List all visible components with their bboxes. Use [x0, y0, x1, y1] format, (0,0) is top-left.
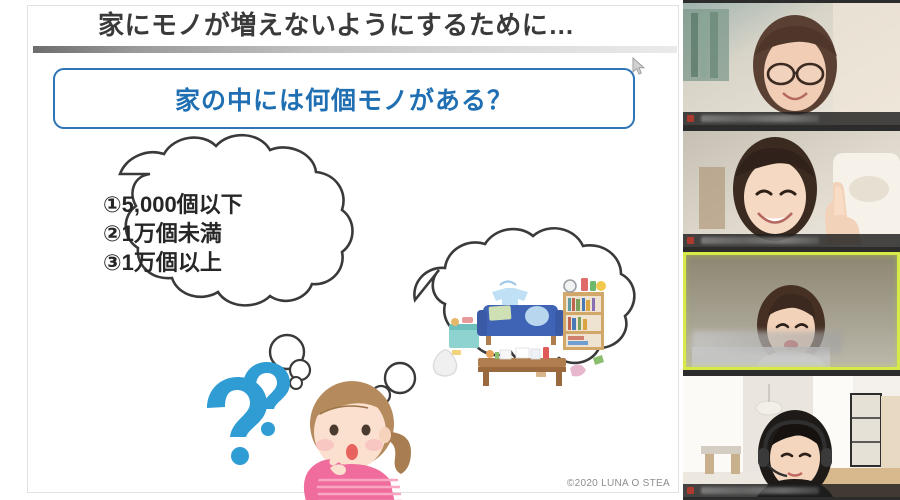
mic-muted-icon-1	[687, 115, 694, 122]
slide-title: 家にモノが増えないようにするために…	[98, 8, 598, 42]
screen-share-meeting-view: 家にモノが増えないようにするために… 家の中には何個モノがある？	[0, 0, 900, 500]
participant-tile-4[interactable]	[683, 376, 900, 497]
participant-video-panel	[683, 0, 900, 500]
option-list: ①5,000個以下 ②1万個未満 ③1万個以上	[103, 190, 333, 277]
participant-name-bar-2	[683, 234, 900, 247]
option-item-3: ③1万個以上	[103, 248, 333, 277]
copyright-notice: ©2020 LUNA O STEA	[470, 478, 670, 489]
video-feed-1	[683, 3, 900, 125]
participant-name-blurred-3	[692, 331, 842, 353]
video-feed-4	[683, 376, 900, 497]
participant-name-blurred-1	[701, 115, 819, 122]
mouse-cursor	[632, 57, 646, 75]
participant-tile-2[interactable]	[683, 131, 900, 247]
video-feed-2	[683, 131, 900, 247]
mic-muted-icon-4	[687, 487, 694, 494]
question-text: 家の中には何個モノがある？	[175, 81, 513, 117]
shared-slide: 家にモノが増えないようにするために… 家の中には何個モノがある？	[0, 0, 683, 500]
participant-name-bar-4	[683, 484, 900, 497]
mic-muted-icon-2	[687, 237, 694, 244]
title-divider	[33, 46, 677, 53]
participant-name-bar-1	[683, 112, 900, 125]
participant-tile-3-active-speaker[interactable]	[683, 252, 900, 370]
participant-tile-1[interactable]	[683, 3, 900, 125]
option-item-2: ②1万個未満	[103, 219, 333, 248]
participant-name-blurred-4	[701, 487, 819, 494]
participant-name-blurred-2	[701, 237, 819, 244]
option-item-1: ①5,000個以下	[103, 190, 333, 219]
question-box: 家の中には何個モノがある？	[53, 68, 635, 129]
